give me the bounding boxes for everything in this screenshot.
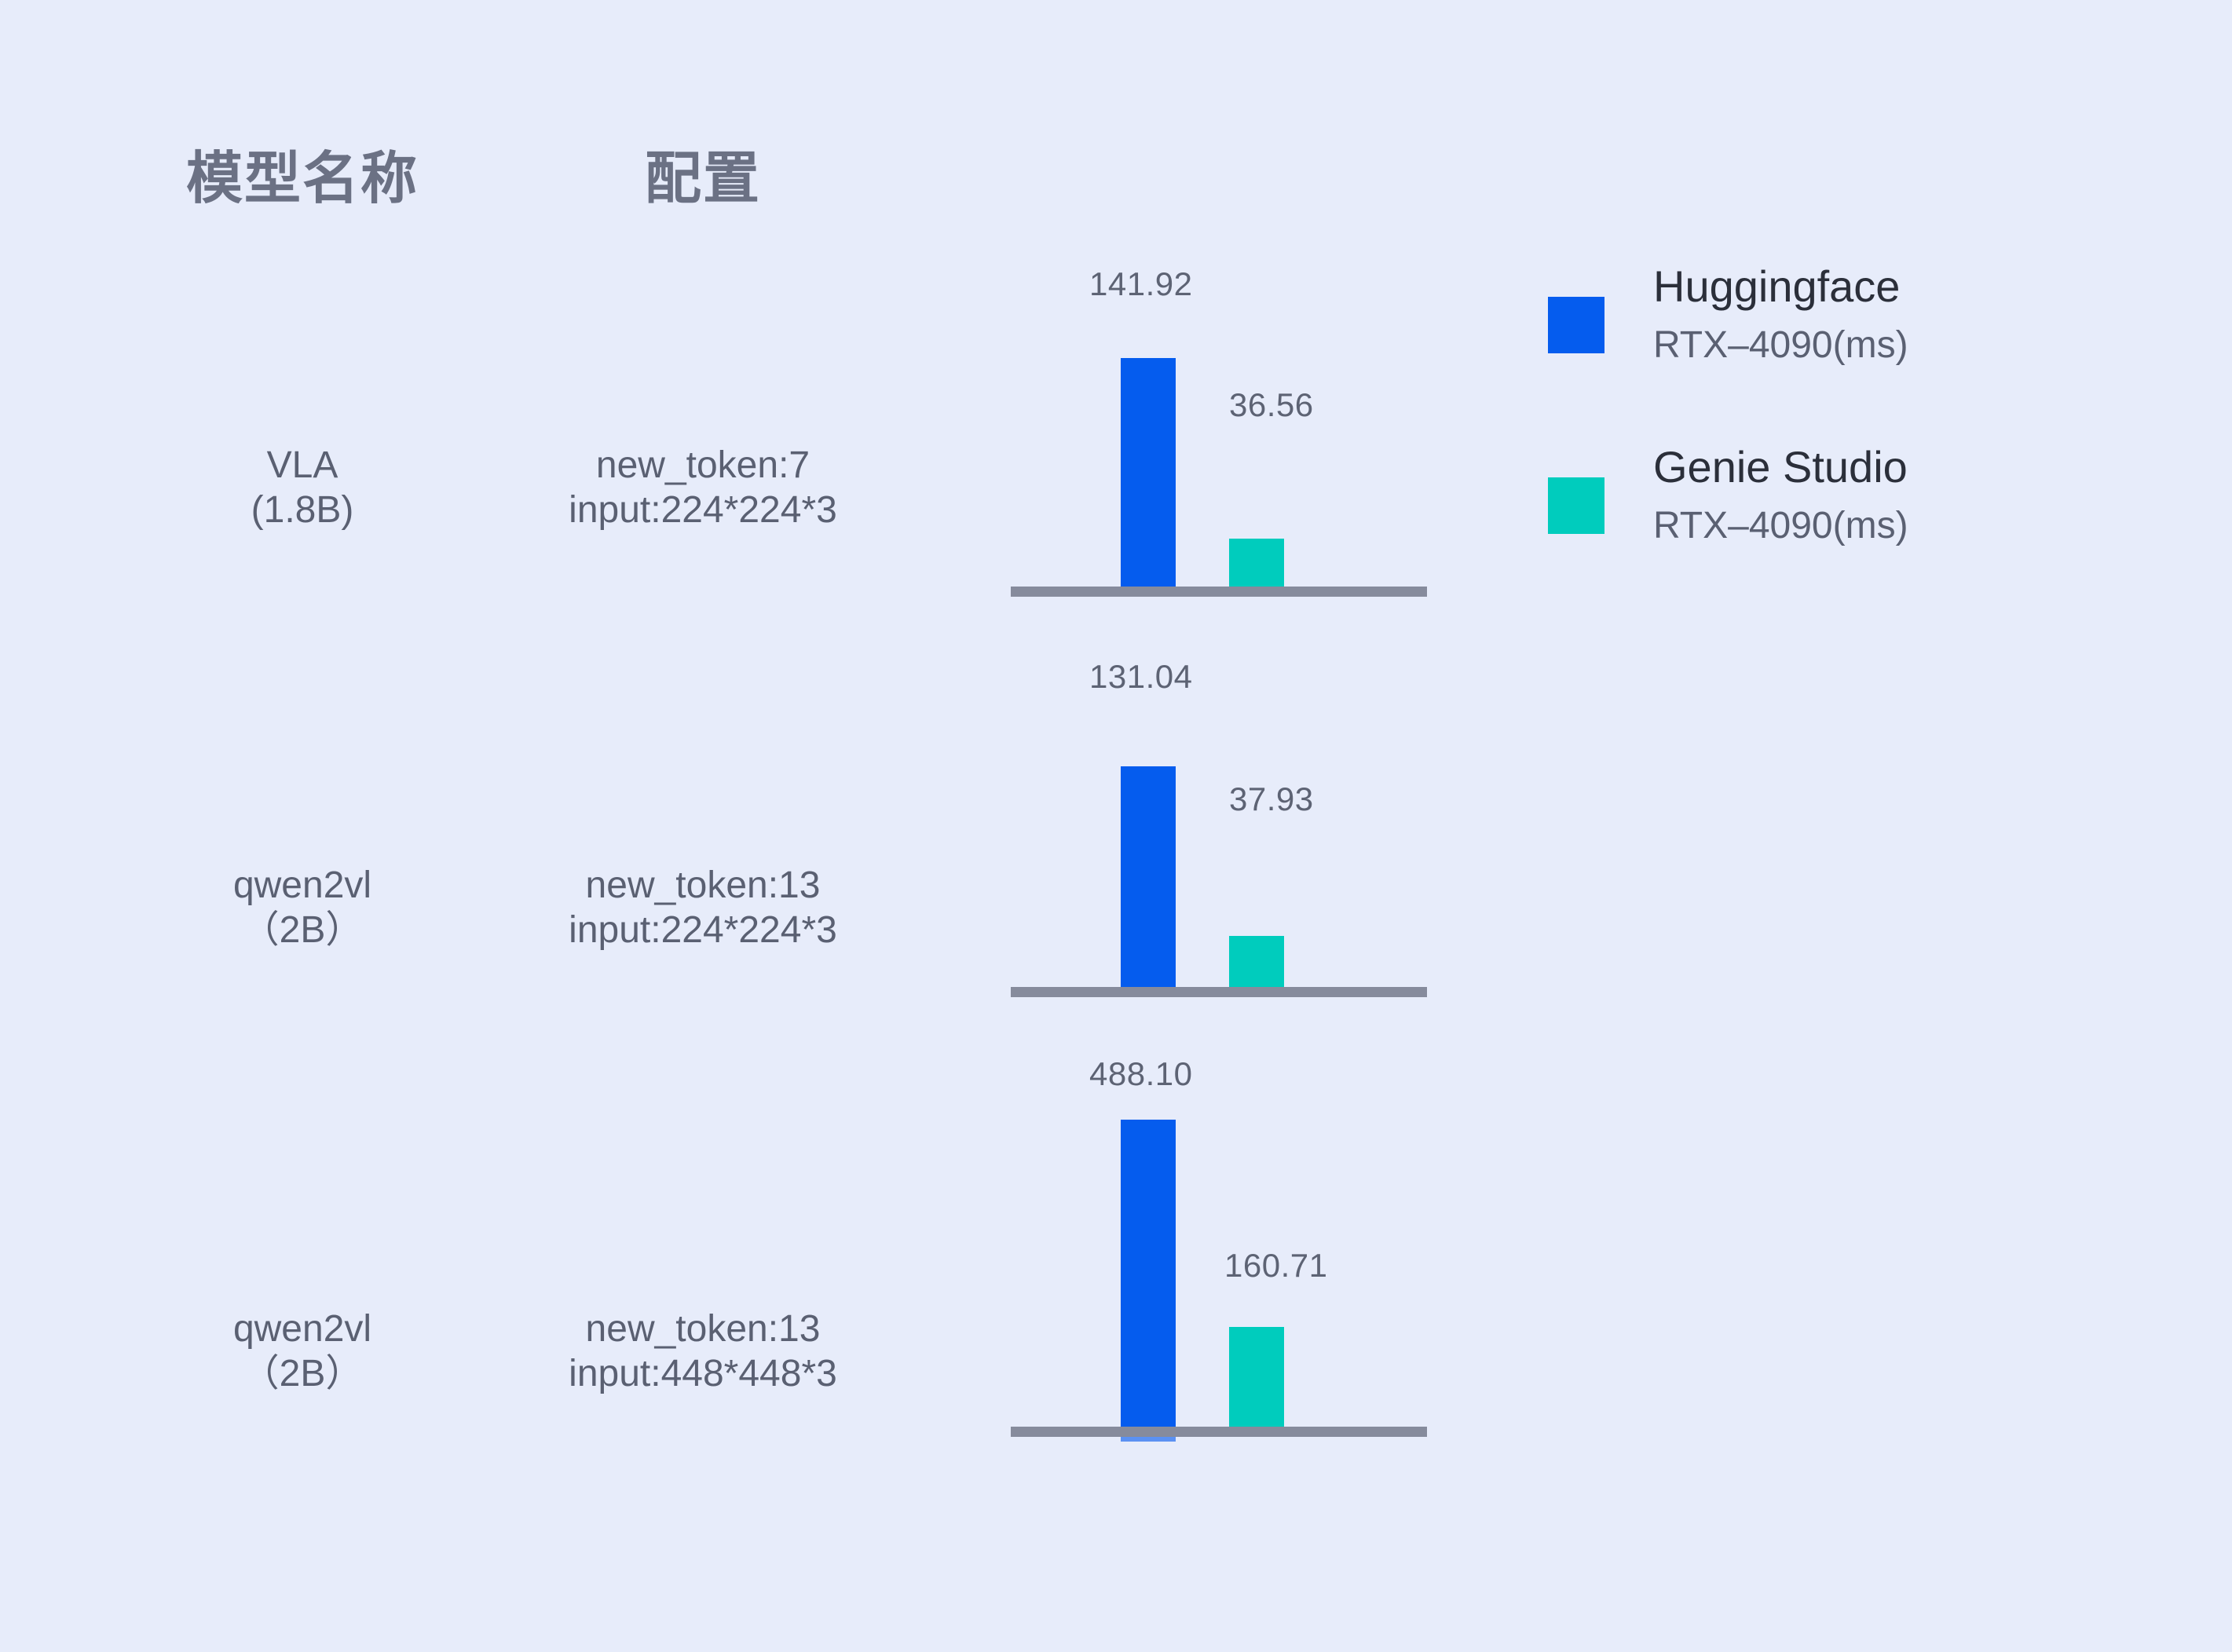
row-config-line2: input:224*224*3 [518,488,887,533]
row-model-line1: qwen2vl [118,1307,487,1352]
bar-genie[interactable] [1229,539,1284,587]
legend-label: Huggingface [1653,261,1900,312]
row-config-line1: new_token:13 [518,864,887,908]
row-bar-chart: 131.04 37.93 [1011,636,1427,997]
row-model-line1: qwen2vl [118,864,487,908]
row-config-line1: new_token:7 [518,444,887,488]
row-model-line2: (1.8B) [118,488,487,533]
bar-huggingface[interactable] [1121,766,1176,987]
chart-baseline [1011,587,1427,597]
legend-label: Genie Studio [1653,441,1908,492]
bar-value-label-huggingface: 131.04 [1089,658,1192,696]
row-bar-chart: 488.10 160.71 [1011,1036,1427,1437]
table-row: qwen2vl （2B） new_token:13 input:448*448*… [0,1036,1492,1476]
legend-item-genie-studio[interactable]: Genie Studio RTX–4090(ms) [1543,416,2187,597]
row-model-label: qwen2vl （2B） [118,864,487,952]
chart-rows: VLA (1.8B) new_token:7 input:224*224*3 1… [0,236,1492,1476]
row-model-line2: （2B） [118,908,487,953]
row-model-label: qwen2vl （2B） [118,1307,487,1396]
bar-value-label-genie: 37.93 [1229,780,1314,818]
table-row: VLA (1.8B) new_token:7 input:224*224*3 1… [0,236,1492,636]
bar-value-label-huggingface: 141.92 [1089,265,1192,303]
row-config-label: new_token:7 input:224*224*3 [518,444,887,532]
table-row: qwen2vl （2B） new_token:13 input:224*224*… [0,636,1492,1036]
legend-sublabel: RTX–4090(ms) [1653,504,1908,547]
row-model-line2: （2B） [118,1352,487,1397]
bar-overflow-underline [1121,1437,1176,1442]
bar-value-label-huggingface: 488.10 [1089,1055,1192,1093]
column-headers: 模型名称 配置 [0,126,982,220]
blue-swatch-icon [1548,297,1604,353]
teal-swatch-icon [1548,477,1604,534]
row-model-line1: VLA [118,444,487,488]
bar-value-label-genie: 160.71 [1224,1247,1327,1285]
bar-huggingface[interactable] [1121,358,1176,587]
column-header-config: 配置 [518,132,887,214]
bar-huggingface[interactable] [1121,1120,1176,1427]
column-header-model-name: 模型名称 [118,132,487,214]
legend-sublabel: RTX–4090(ms) [1653,323,1908,367]
row-config-line2: input:224*224*3 [518,908,887,953]
legend-item-huggingface[interactable]: Huggingface RTX–4090(ms) [1543,236,2187,416]
row-config-line2: input:448*448*3 [518,1352,887,1397]
chart-baseline [1011,1427,1427,1437]
row-config-label: new_token:13 input:448*448*3 [518,1307,887,1396]
bar-genie[interactable] [1229,936,1284,987]
row-bar-chart: 141.92 36.56 [1011,236,1427,597]
row-config-line1: new_token:13 [518,1307,887,1352]
bar-genie[interactable] [1229,1327,1284,1427]
row-config-label: new_token:13 input:224*224*3 [518,864,887,952]
bar-value-label-genie: 36.56 [1229,386,1314,424]
chart-baseline [1011,987,1427,997]
row-model-label: VLA (1.8B) [118,444,487,532]
chart-legend: Huggingface RTX–4090(ms) Genie Studio RT… [1543,236,2187,597]
